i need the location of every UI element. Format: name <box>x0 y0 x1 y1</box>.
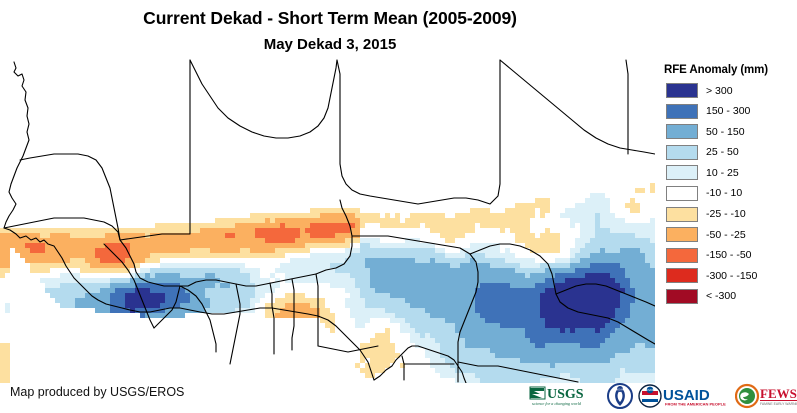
raster-cell <box>275 228 280 233</box>
legend-swatch <box>666 83 698 98</box>
raster-cell <box>640 328 645 333</box>
raster-cell <box>475 303 480 308</box>
raster-cell <box>485 278 490 283</box>
raster-cell <box>475 338 480 343</box>
raster-cell <box>515 348 520 353</box>
raster-cell <box>525 348 530 353</box>
raster-cell <box>485 298 490 303</box>
raster-cell <box>185 278 190 283</box>
raster-cell <box>360 368 365 373</box>
raster-cell <box>490 268 495 273</box>
raster-cell <box>385 298 390 303</box>
raster-cell <box>175 308 180 313</box>
raster-cell <box>190 298 195 303</box>
raster-cell <box>545 343 550 348</box>
raster-cell <box>610 248 615 253</box>
raster-cell <box>590 273 595 278</box>
raster-cell <box>365 313 370 318</box>
raster-cell <box>200 233 205 238</box>
raster-cell <box>590 208 595 213</box>
raster-cell <box>465 283 470 288</box>
raster-cell <box>540 273 545 278</box>
raster-cell <box>360 263 365 268</box>
raster-cell <box>455 213 460 218</box>
raster-cell <box>255 233 260 238</box>
raster-cell <box>165 223 170 228</box>
raster-cell <box>455 303 460 308</box>
raster-cell <box>550 363 555 368</box>
raster-cell <box>240 268 245 273</box>
raster-cell <box>615 248 620 253</box>
raster-cell <box>165 263 170 268</box>
raster-cell <box>585 263 590 268</box>
raster-cell <box>325 313 330 318</box>
raster-cell <box>595 298 600 303</box>
raster-cell <box>425 273 430 278</box>
raster-cell <box>640 293 645 298</box>
raster-cell <box>570 223 575 228</box>
raster-cell <box>425 278 430 283</box>
raster-cell <box>400 248 405 253</box>
raster-cell <box>210 263 215 268</box>
raster-cell <box>545 333 550 338</box>
raster-cell <box>570 353 575 358</box>
raster-cell <box>405 303 410 308</box>
raster-cell <box>455 233 460 238</box>
raster-cell <box>585 363 590 368</box>
raster-cell <box>0 353 5 358</box>
raster-cell <box>610 283 615 288</box>
raster-cell <box>245 243 250 248</box>
raster-cell <box>585 203 590 208</box>
raster-cell <box>460 258 465 263</box>
raster-cell <box>460 263 465 268</box>
raster-cell <box>570 318 575 323</box>
raster-cell <box>215 233 220 238</box>
raster-cell <box>155 223 160 228</box>
raster-cell <box>405 263 410 268</box>
raster-cell <box>225 243 230 248</box>
raster-cell <box>550 358 555 363</box>
raster-cell <box>495 288 500 293</box>
raster-cell <box>615 258 620 263</box>
raster-cell <box>245 253 250 258</box>
raster-cell <box>195 228 200 233</box>
raster-cell <box>590 288 595 293</box>
raster-cell <box>470 323 475 328</box>
raster-cell <box>225 288 230 293</box>
raster-cell <box>500 323 505 328</box>
raster-cell <box>350 313 355 318</box>
raster-cell <box>455 253 460 258</box>
raster-cell <box>590 198 595 203</box>
raster-cell <box>350 303 355 308</box>
raster-cell <box>190 253 195 258</box>
raster-cell <box>410 308 415 313</box>
raster-cell <box>470 358 475 363</box>
raster-cell <box>375 258 380 263</box>
raster-cell <box>415 293 420 298</box>
raster-cell <box>415 268 420 273</box>
raster-cell <box>560 373 565 378</box>
raster-cell <box>610 238 615 243</box>
raster-cell <box>545 318 550 323</box>
raster-cell <box>480 368 485 373</box>
legend-row: 25 - 50 <box>655 143 797 162</box>
raster-cell <box>610 303 615 308</box>
raster-cell <box>235 248 240 253</box>
raster-cell <box>630 263 635 268</box>
raster-cell <box>270 253 275 258</box>
raster-cell <box>275 233 280 238</box>
raster-cell <box>395 318 400 323</box>
raster-cell <box>565 313 570 318</box>
raster-cell <box>605 258 610 263</box>
raster-cell <box>470 348 475 353</box>
raster-cell <box>165 303 170 308</box>
raster-cell <box>630 203 635 208</box>
raster-cell <box>350 273 355 278</box>
raster-cell <box>560 313 565 318</box>
raster-cell <box>180 293 185 298</box>
raster-cell <box>145 268 150 273</box>
raster-cell <box>435 283 440 288</box>
noaa-logo[interactable]: NOAA <box>607 383 633 409</box>
raster-cell <box>55 283 60 288</box>
raster-cell <box>600 193 605 198</box>
raster-cell <box>165 253 170 258</box>
raster-cell <box>600 253 605 258</box>
raster-cell <box>45 248 50 253</box>
raster-cell <box>445 318 450 323</box>
raster-cell <box>485 208 490 213</box>
raster-cell <box>570 358 575 363</box>
raster-cell <box>250 228 255 233</box>
raster-cell <box>625 298 630 303</box>
raster-cell <box>490 368 495 373</box>
raster-cell <box>155 243 160 248</box>
raster-cell <box>310 238 315 243</box>
raster-cell <box>520 313 525 318</box>
raster-cell <box>415 338 420 343</box>
raster-cell <box>490 278 495 283</box>
raster-cell <box>440 278 445 283</box>
raster-cell <box>215 248 220 253</box>
raster-cell <box>435 328 440 333</box>
raster-cell <box>530 338 535 343</box>
raster-cell <box>395 223 400 228</box>
agency-logos: USGS science for a changing world NOAA U… <box>528 382 794 410</box>
raster-cell <box>375 313 380 318</box>
raster-cell <box>65 233 70 238</box>
raster-cell <box>120 293 125 298</box>
raster-cell <box>515 308 520 313</box>
raster-cell <box>520 378 525 383</box>
raster-cell <box>300 303 305 308</box>
raster-cell <box>400 243 405 248</box>
raster-cell <box>490 293 495 298</box>
raster-cell <box>590 318 595 323</box>
raster-cell <box>640 343 645 348</box>
raster-cell <box>405 273 410 278</box>
raster-cell <box>275 218 280 223</box>
raster-cell <box>230 268 235 273</box>
raster-cell <box>495 353 500 358</box>
map-page: Current Dekad - Short Term Mean (2005-20… <box>0 0 797 413</box>
raster-cell <box>520 318 525 323</box>
raster-cell <box>555 348 560 353</box>
raster-cell <box>555 263 560 268</box>
raster-cell <box>390 273 395 278</box>
raster-cell <box>585 268 590 273</box>
raster-cell <box>150 258 155 263</box>
raster-cell <box>585 228 590 233</box>
raster-cell <box>520 358 525 363</box>
raster-cell <box>45 278 50 283</box>
raster-cell <box>445 223 450 228</box>
raster-cell <box>635 313 640 318</box>
raster-cell <box>105 278 110 283</box>
raster-cell <box>610 233 615 238</box>
raster-cell <box>420 293 425 298</box>
raster-cell <box>200 248 205 253</box>
raster-cell <box>580 338 585 343</box>
raster-cell <box>380 268 385 273</box>
raster-cell <box>585 218 590 223</box>
raster-cell <box>470 318 475 323</box>
raster-cell <box>615 348 620 353</box>
raster-cell <box>75 263 80 268</box>
raster-cell <box>505 333 510 338</box>
raster-cell <box>285 233 290 238</box>
raster-cell <box>520 308 525 313</box>
raster-cell <box>645 368 650 373</box>
raster-cell <box>620 268 625 273</box>
raster-cell <box>150 248 155 253</box>
raster-cell <box>585 353 590 358</box>
raster-cell <box>545 198 550 203</box>
raster-cell <box>535 323 540 328</box>
raster-cell <box>335 258 340 263</box>
raster-cell <box>490 283 495 288</box>
raster-cell <box>520 343 525 348</box>
raster-cell <box>580 273 585 278</box>
raster-cell <box>545 293 550 298</box>
raster-cell <box>240 298 245 303</box>
raster-cell <box>60 283 65 288</box>
raster-cell <box>435 218 440 223</box>
raster-cell <box>600 318 605 323</box>
raster-cell <box>220 243 225 248</box>
raster-cell <box>595 288 600 293</box>
raster-cell <box>635 358 640 363</box>
raster-cell <box>225 273 230 278</box>
raster-cell <box>605 328 610 333</box>
raster-cell <box>605 263 610 268</box>
raster-cell <box>260 213 265 218</box>
raster-cell <box>325 323 330 328</box>
raster-cell <box>250 273 255 278</box>
raster-cell <box>560 308 565 313</box>
raster-cell <box>635 248 640 253</box>
raster-cell <box>50 238 55 243</box>
raster-cell <box>35 258 40 263</box>
raster-cell <box>635 258 640 263</box>
raster-cell <box>475 333 480 338</box>
raster-cell <box>615 278 620 283</box>
raster-cell <box>0 253 5 258</box>
raster-cell <box>375 278 380 283</box>
raster-cell <box>445 233 450 238</box>
raster-cell <box>360 318 365 323</box>
raster-cell <box>210 273 215 278</box>
raster-cell <box>380 343 385 348</box>
raster-cell <box>115 293 120 298</box>
raster-cell <box>490 328 495 333</box>
raster-cell <box>500 368 505 373</box>
raster-cell <box>600 343 605 348</box>
raster-cell <box>135 228 140 233</box>
raster-cell <box>405 308 410 313</box>
raster-cell <box>215 228 220 233</box>
raster-cell <box>355 248 360 253</box>
raster-cell <box>515 298 520 303</box>
raster-cell <box>430 263 435 268</box>
raster-cell <box>115 288 120 293</box>
raster-cell <box>505 323 510 328</box>
usgs-logo[interactable]: USGS science for a changing world <box>528 383 602 409</box>
map-canvas[interactable] <box>0 58 655 383</box>
rfe-anomaly-raster-map[interactable] <box>0 58 655 383</box>
raster-cell <box>515 228 520 233</box>
raster-cell <box>605 298 610 303</box>
raster-cell <box>565 373 570 378</box>
usaid-logo[interactable]: USAID USAID FROM THE AMERICAN PEOPLE <box>638 383 730 409</box>
raster-cell <box>120 298 125 303</box>
raster-cell <box>380 293 385 298</box>
raster-cell <box>625 343 630 348</box>
raster-cell <box>60 263 65 268</box>
raster-cell <box>215 308 220 313</box>
raster-cell <box>355 313 360 318</box>
raster-cell <box>580 353 585 358</box>
raster-cell <box>120 268 125 273</box>
raster-cell <box>455 288 460 293</box>
raster-cell <box>385 258 390 263</box>
raster-cell <box>150 288 155 293</box>
raster-cell <box>470 213 475 218</box>
raster-cell <box>490 258 495 263</box>
raster-cell <box>560 323 565 328</box>
raster-cell <box>565 328 570 333</box>
raster-cell <box>480 378 485 383</box>
raster-cell <box>465 333 470 338</box>
raster-cell <box>570 288 575 293</box>
raster-cell <box>385 213 390 218</box>
raster-cell <box>370 278 375 283</box>
raster-cell <box>485 378 490 383</box>
raster-cell <box>340 258 345 263</box>
raster-cell <box>305 258 310 263</box>
raster-cell <box>275 243 280 248</box>
raster-cell <box>440 323 445 328</box>
raster-cell <box>90 268 95 273</box>
raster-cell <box>605 218 610 223</box>
raster-cell <box>580 233 585 238</box>
legend-label: -150 - -50 <box>706 249 752 261</box>
raster-cell <box>555 268 560 273</box>
raster-cell <box>560 328 565 333</box>
raster-cell <box>65 293 70 298</box>
raster-cell <box>505 253 510 258</box>
raster-cell <box>300 228 305 233</box>
raster-cell <box>455 283 460 288</box>
raster-cell <box>400 318 405 323</box>
raster-cell <box>280 223 285 228</box>
raster-cell <box>300 223 305 228</box>
raster-cell <box>360 243 365 248</box>
raster-cell <box>440 273 445 278</box>
raster-cell <box>0 228 5 233</box>
raster-cell <box>155 278 160 283</box>
raster-cell <box>340 273 345 278</box>
raster-cell <box>260 288 265 293</box>
raster-cell <box>540 238 545 243</box>
raster-cell <box>250 268 255 273</box>
raster-cell <box>530 323 535 328</box>
raster-cell <box>620 253 625 258</box>
raster-cell <box>420 248 425 253</box>
raster-cell <box>355 238 360 243</box>
raster-cell <box>400 298 405 303</box>
raster-cell <box>370 308 375 313</box>
raster-cell <box>580 323 585 328</box>
raster-cell <box>500 378 505 383</box>
raster-cell <box>410 258 415 263</box>
raster-cell <box>385 243 390 248</box>
raster-cell <box>505 358 510 363</box>
raster-cell <box>515 283 520 288</box>
raster-cell <box>375 348 380 353</box>
raster-cell <box>255 273 260 278</box>
raster-cell <box>220 303 225 308</box>
raster-cell <box>215 238 220 243</box>
fews-net-logo[interactable]: FEWS NET FAMINE EARLY WARNING SYSTEMS NE… <box>735 383 797 409</box>
raster-cell <box>515 353 520 358</box>
raster-cell <box>115 248 120 253</box>
raster-cell <box>215 288 220 293</box>
raster-cell <box>70 233 75 238</box>
raster-cell <box>265 308 270 313</box>
raster-cell <box>470 343 475 348</box>
raster-cell <box>545 273 550 278</box>
raster-cell <box>385 358 390 363</box>
raster-cell <box>395 248 400 253</box>
raster-cell <box>220 268 225 273</box>
raster-cell <box>445 343 450 348</box>
raster-cell <box>510 333 515 338</box>
raster-cell <box>130 228 135 233</box>
raster-cell <box>365 213 370 218</box>
raster-cell <box>600 373 605 378</box>
raster-cell <box>500 328 505 333</box>
raster-cell <box>525 313 530 318</box>
raster-cell <box>235 273 240 278</box>
raster-cell <box>580 333 585 338</box>
raster-cell <box>520 203 525 208</box>
raster-cell <box>485 323 490 328</box>
raster-cell <box>615 293 620 298</box>
